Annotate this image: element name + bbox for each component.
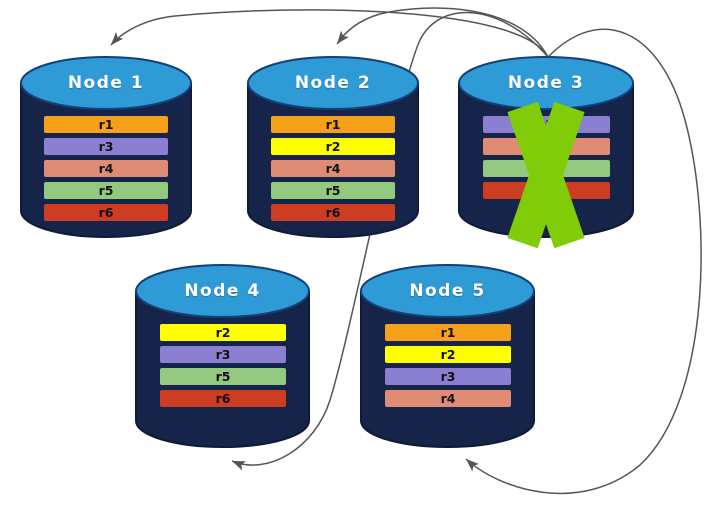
database-node-1[interactable]: Node 1r1r3r4r5r6 (20, 57, 192, 237)
edge-node3-to-node1 (111, 10, 548, 57)
edge-node3-to-node5-arrowhead (463, 455, 479, 471)
database-node-5[interactable]: Node 5r1r2r3r4 (360, 265, 535, 447)
record-bar: r4 (44, 160, 168, 177)
diagram-canvas: Node 1r1r3r4r5r6Node 2r1r2r4r5r6Node 3r3… (0, 0, 708, 508)
database-node-2[interactable]: Node 2r1r2r4r5r6 (247, 57, 419, 237)
record-bar: r2 (160, 324, 286, 341)
record-bar: r3 (44, 138, 168, 155)
record-bar: r1 (271, 116, 395, 133)
record-bar: r6 (44, 204, 168, 221)
edge-node3-to-node1-arrowhead (107, 32, 123, 48)
database-node-3[interactable]: Node 3r3r4r5r6 (458, 57, 634, 237)
node-label: Node 4 (135, 281, 310, 301)
record-bar: r2 (271, 138, 395, 155)
record-bar: r4 (271, 160, 395, 177)
edge-node3-to-node4-arrowhead (230, 456, 246, 470)
record-bar: r3 (160, 346, 286, 363)
record-bar: r2 (385, 346, 511, 363)
record-bar: r1 (44, 116, 168, 133)
node-label: Node 1 (20, 73, 192, 93)
record-bar: r5 (271, 182, 395, 199)
record-bar: r5 (44, 182, 168, 199)
edge-node3-to-node2 (337, 8, 548, 57)
node-label: Node 5 (360, 281, 535, 301)
record-bar: r6 (160, 390, 286, 407)
node-label: Node 2 (247, 73, 419, 93)
edge-node3-to-node2-arrowhead (333, 31, 349, 47)
record-bar: r3 (385, 368, 511, 385)
record-bar: r4 (385, 390, 511, 407)
node-failure-x-icon (484, 105, 609, 245)
record-bar: r5 (160, 368, 286, 385)
node-label: Node 3 (458, 73, 634, 93)
database-node-4[interactable]: Node 4r2r3r5r6 (135, 265, 310, 447)
record-bar: r1 (385, 324, 511, 341)
record-bar: r6 (271, 204, 395, 221)
